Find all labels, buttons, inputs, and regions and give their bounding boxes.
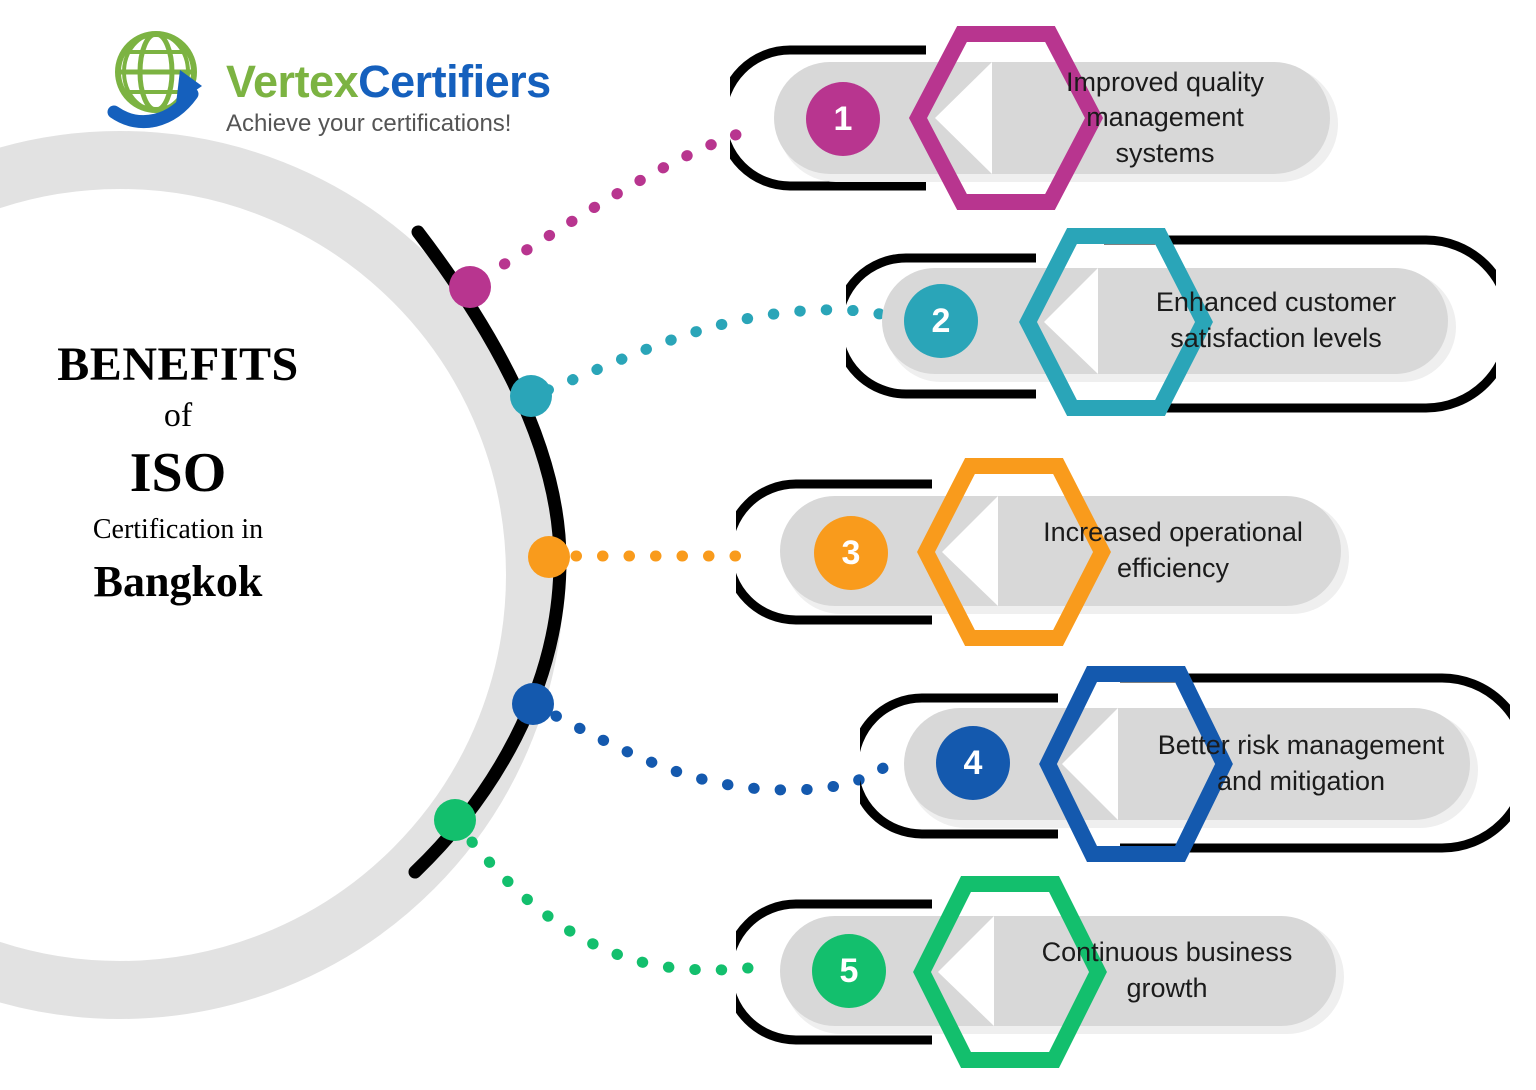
benefit-number-badge-5: 5 bbox=[812, 934, 886, 1008]
brand-name-part2: Certifiers bbox=[358, 56, 551, 107]
arc-node-2 bbox=[510, 375, 552, 417]
connector-dotted-4 bbox=[556, 716, 886, 790]
benefit-number-1: 1 bbox=[834, 100, 853, 139]
brand-name-part1: Vertex bbox=[226, 56, 358, 107]
benefit-item-5[interactable]: 5 Continuous business growth bbox=[736, 866, 1376, 1078]
connector-dotted-1 bbox=[482, 132, 744, 278]
title-line-city: Bangkok bbox=[28, 553, 328, 610]
title-line-benefits: BENEFITS bbox=[28, 340, 328, 390]
benefit-number-badge-3: 3 bbox=[814, 516, 888, 590]
benefit-label-4: Better risk management and mitigation bbox=[1116, 710, 1486, 818]
page-title: BENEFITS of ISO Certification in Bangkok bbox=[28, 340, 328, 611]
benefit-item-3[interactable]: 3 Increased operational efficiency bbox=[736, 448, 1376, 658]
benefit-label-5: Continuous business growth bbox=[992, 918, 1342, 1024]
connector-dotted-2 bbox=[548, 310, 880, 390]
brand-wordmark: VertexCertifiers bbox=[226, 56, 551, 108]
infographic-canvas: VertexCertifiers Achieve your certificat… bbox=[0, 0, 1536, 1090]
brand-logo[interactable]: VertexCertifiers Achieve your certificat… bbox=[106, 24, 526, 140]
arc-node-3 bbox=[528, 536, 570, 578]
benefit-item-2[interactable]: 2 Enhanced customer satisfaction levels bbox=[846, 228, 1496, 424]
benefit-label-3: Increased operational efficiency bbox=[998, 498, 1348, 604]
connector-dotted-5 bbox=[472, 842, 748, 970]
benefit-number-4: 4 bbox=[964, 744, 983, 783]
benefit-number-badge-4: 4 bbox=[936, 726, 1010, 800]
benefit-label-2: Enhanced customer satisfaction levels bbox=[1096, 268, 1456, 374]
arc-node-1 bbox=[449, 266, 491, 308]
title-line-certification: Certification in bbox=[28, 506, 328, 554]
benefit-item-1[interactable]: 1 Improved quality management systems bbox=[730, 18, 1370, 228]
benefit-number-5: 5 bbox=[840, 952, 859, 991]
benefit-number-badge-1: 1 bbox=[806, 82, 880, 156]
title-line-of: of bbox=[28, 390, 328, 441]
arc-node-4 bbox=[512, 683, 554, 725]
brand-tagline: Achieve your certifications! bbox=[226, 110, 511, 138]
benefit-label-1: Improved quality management systems bbox=[990, 56, 1340, 180]
globe-arrow-logo-icon bbox=[106, 26, 214, 134]
benefit-item-4[interactable]: 4 Better risk management and mitigation bbox=[860, 660, 1510, 870]
benefit-number-badge-2: 2 bbox=[904, 284, 978, 358]
title-line-iso: ISO bbox=[28, 441, 328, 505]
benefit-number-2: 2 bbox=[932, 302, 951, 341]
arc-node-5 bbox=[434, 799, 476, 841]
benefit-number-3: 3 bbox=[842, 534, 861, 573]
